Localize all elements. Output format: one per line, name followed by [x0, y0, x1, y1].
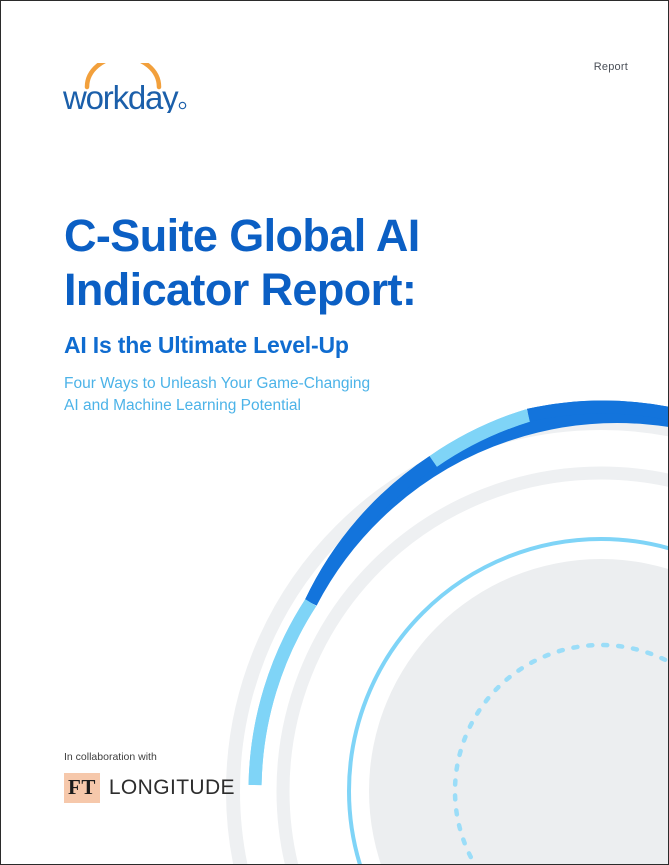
page-title-line-2: Indicator Report: [64, 264, 416, 315]
page-tagline: Four Ways to Unleash Your Game-Changing … [64, 373, 534, 417]
arc-light-top [433, 415, 528, 461]
partner-name: LONGITUDE [109, 776, 235, 800]
page-header: workday Report [1, 1, 669, 131]
arc-segment-light-2 [433, 415, 528, 461]
workday-logo: workday [63, 63, 189, 113]
workday-registered-mark-icon [179, 102, 185, 108]
arc-segment-dark-1c [311, 417, 669, 603]
page-subtitle: AI Is the Ultimate Level-Up [64, 331, 534, 359]
report-cover-page: workday Report C-Suite Global AI Indicat… [0, 0, 669, 865]
page-tagline-line-1: Four Ways to Unleash Your Game-Changing [64, 373, 534, 395]
ft-badge-icon: FT [64, 773, 100, 803]
page-title: C-Suite Global AI Indicator Report: [64, 209, 534, 317]
dotted-light-blue-circle [455, 645, 669, 865]
grey-filled-disc [369, 559, 669, 865]
collaboration-block: In collaboration with FT LONGITUDE [64, 751, 364, 803]
page-title-line-1: C-Suite Global AI [64, 210, 420, 261]
arc-segment-dark-2 [528, 407, 669, 791]
ft-longitude-logo: FT LONGITUDE [64, 773, 364, 803]
title-block: C-Suite Global AI Indicator Report: AI I… [64, 209, 534, 417]
arc-segment-dark-1 [311, 461, 433, 602]
page-tagline-line-2: AI and Machine Learning Potential [64, 395, 534, 417]
arc-dark-top-right [528, 407, 669, 791]
thin-light-blue-circle [349, 539, 669, 865]
document-kind-label: Report [594, 61, 628, 73]
workday-wordmark: workday [63, 79, 179, 113]
arc-dark-main [311, 461, 433, 602]
collaboration-label: In collaboration with [64, 751, 364, 763]
inner-grey-track-ring [283, 473, 669, 865]
